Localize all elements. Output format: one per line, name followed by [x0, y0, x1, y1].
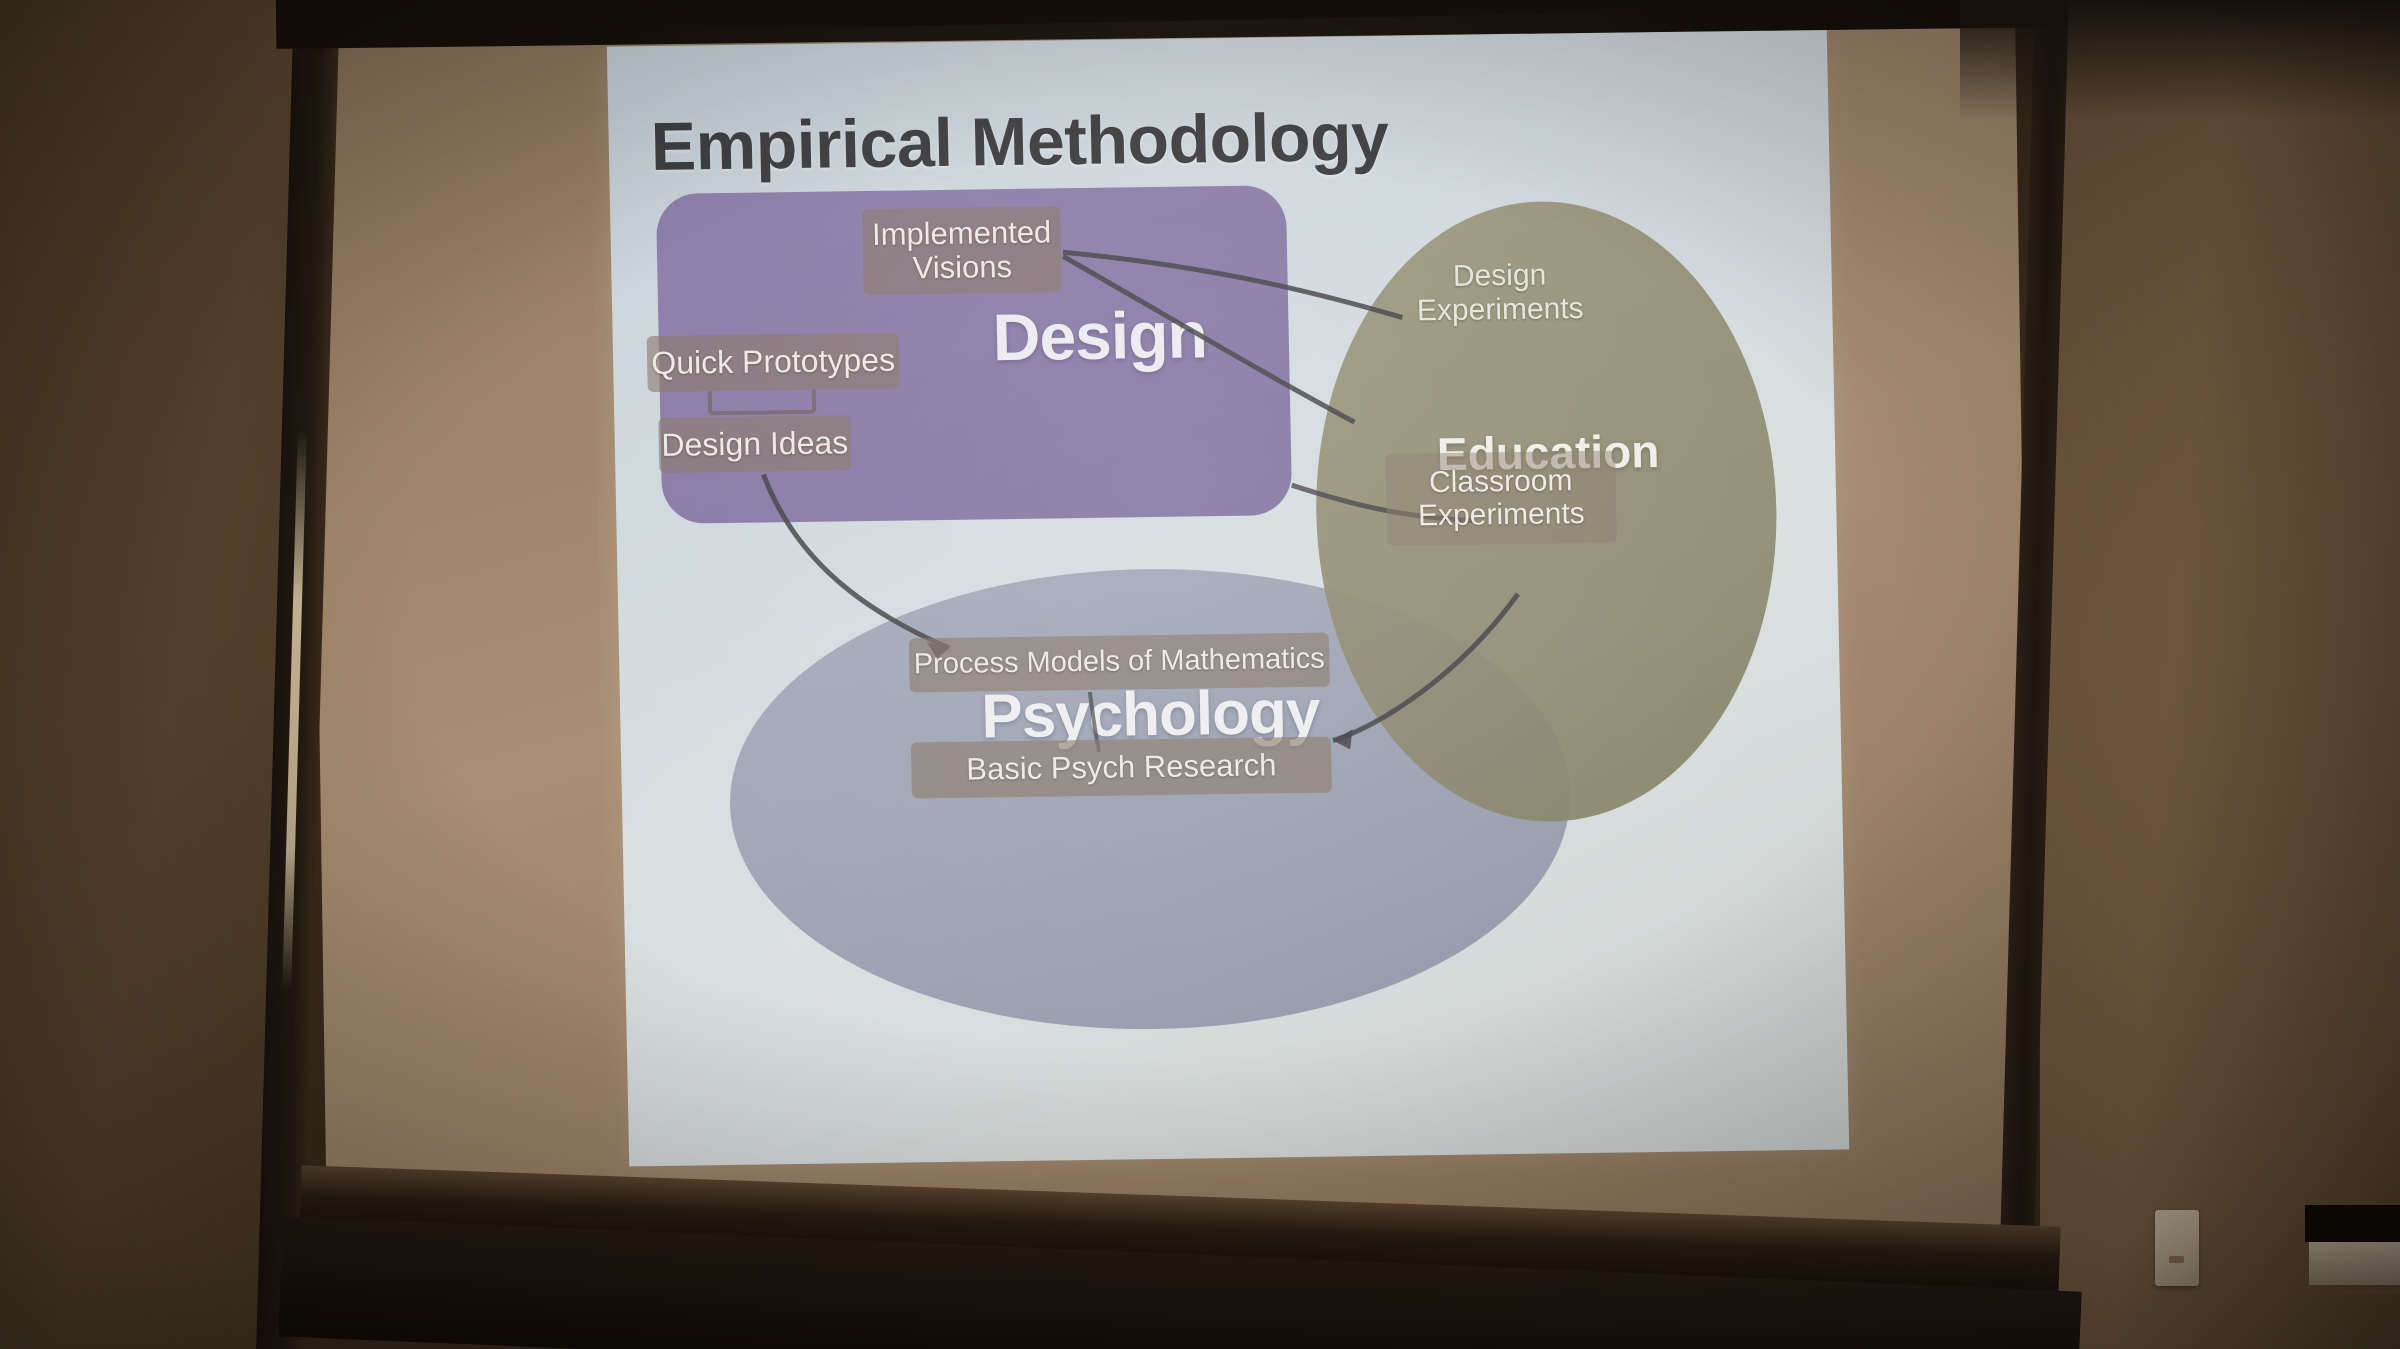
wall-panel-trim: [2307, 1289, 2400, 1294]
slide-title: Empirical Methodology: [650, 98, 1389, 186]
wall-mounted-panel: [2305, 1205, 2400, 1305]
left-wall: [0, 0, 300, 1349]
tag-design-ideas: Design Ideas: [658, 415, 851, 473]
wall-panel-light-band: [2309, 1242, 2400, 1285]
light-switch-plate[interactable]: [2155, 1210, 2199, 1286]
room-scene: Design Psychology Education: [0, 0, 2400, 1349]
tag-basic-psych-research: Basic Psych Research: [911, 737, 1332, 799]
tag-implemented-visions: Implemented Visions: [862, 206, 1062, 295]
right-wall: [2040, 0, 2400, 1349]
tag-process-models: Process Models of Mathematics: [909, 633, 1330, 693]
projected-slide: Design Psychology Education: [607, 30, 1849, 1167]
connector-lines: [607, 30, 1849, 1167]
light-switch-toggle[interactable]: [2169, 1256, 2184, 1263]
wall-panel-dark-band: [2305, 1205, 2400, 1242]
ceiling-shadow: [1960, 0, 2400, 120]
tag-classroom-experiments: Classroom Experiments: [1385, 451, 1617, 546]
tag-quick-prototypes: Quick Prototypes: [647, 333, 900, 393]
tag-design-experiments: Design Experiments: [1379, 249, 1621, 338]
